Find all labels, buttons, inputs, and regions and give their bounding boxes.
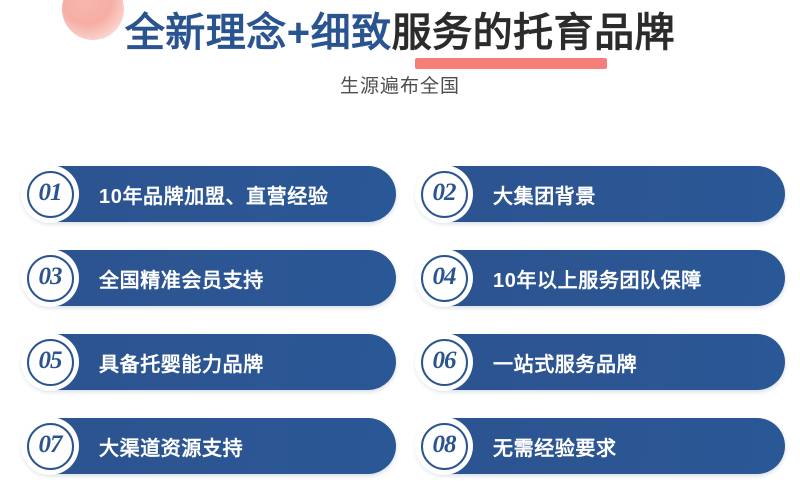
feature-row: 03 全国精准会员支持 04 10年以上服务团队保障: [0, 250, 800, 306]
page-title-secondary: 服务的托育品牌: [392, 11, 676, 55]
feature-number: 06: [433, 347, 456, 375]
feature-pill-08[interactable]: 08 无需经验要求: [416, 418, 785, 474]
badge-ring-icon: 07: [27, 423, 74, 470]
feature-pill-01[interactable]: 01 10年品牌加盟、直营经验: [22, 166, 396, 222]
feature-pill-03[interactable]: 03 全国精准会员支持: [22, 250, 396, 306]
badge-ring-icon: 04: [421, 255, 468, 302]
badge-ring-icon: 03: [27, 255, 74, 302]
feature-row: 07 大渠道资源支持 08 无需经验要求: [0, 418, 800, 474]
page-title-primary: 全新理念+细致: [125, 11, 392, 55]
badge-ring-icon: 08: [421, 423, 468, 470]
feature-label: 无需经验要求: [493, 432, 617, 461]
badge-ring-icon: 02: [421, 171, 468, 218]
feature-label: 大渠道资源支持: [99, 432, 243, 461]
feature-grid: 01 10年品牌加盟、直营经验 02 大集团背景 03: [0, 166, 800, 474]
feature-number: 05: [39, 347, 62, 375]
badge-ring-icon: 05: [27, 339, 74, 386]
feature-badge: 01: [21, 165, 79, 223]
feature-badge: 04: [415, 249, 473, 307]
promo-poster: 全新理念+细致服务的托育品牌 生源遍布全国 01 10年品牌加盟、直营经验 02: [0, 0, 800, 487]
feature-badge: 06: [415, 333, 473, 391]
feature-badge: 08: [415, 417, 473, 475]
feature-pill-02[interactable]: 02 大集团背景: [416, 166, 785, 222]
feature-badge: 03: [21, 249, 79, 307]
feature-label: 10年以上服务团队保障: [493, 264, 702, 293]
feature-pill-07[interactable]: 07 大渠道资源支持: [22, 418, 396, 474]
feature-number: 07: [39, 431, 62, 459]
feature-number: 08: [433, 431, 456, 459]
page-subtitle: 生源遍布全国: [0, 71, 800, 98]
feature-pill-05[interactable]: 05 具备托婴能力品牌: [22, 334, 396, 390]
feature-number: 04: [433, 263, 456, 291]
feature-row: 01 10年品牌加盟、直营经验 02 大集团背景: [0, 166, 800, 222]
page-title: 全新理念+细致服务的托育品牌: [125, 12, 675, 54]
feature-label: 全国精准会员支持: [99, 264, 264, 293]
feature-badge: 05: [21, 333, 79, 391]
feature-row: 05 具备托婴能力品牌 06 一站式服务品牌: [0, 334, 800, 390]
feature-number: 02: [433, 179, 456, 207]
poster-header: 全新理念+细致服务的托育品牌 生源遍布全国: [0, 0, 800, 98]
feature-label: 具备托婴能力品牌: [99, 348, 264, 377]
badge-ring-icon: 01: [27, 171, 74, 218]
feature-pill-04[interactable]: 04 10年以上服务团队保障: [416, 250, 785, 306]
feature-badge: 02: [415, 165, 473, 223]
title-highlight-underline: [415, 58, 607, 69]
feature-number: 01: [39, 179, 62, 207]
badge-ring-icon: 06: [421, 339, 468, 386]
feature-pill-06[interactable]: 06 一站式服务品牌: [416, 334, 785, 390]
feature-badge: 07: [21, 417, 79, 475]
feature-label: 大集团背景: [493, 180, 596, 209]
feature-number: 03: [39, 263, 62, 291]
feature-label: 一站式服务品牌: [493, 348, 637, 377]
feature-label: 10年品牌加盟、直营经验: [99, 180, 328, 209]
